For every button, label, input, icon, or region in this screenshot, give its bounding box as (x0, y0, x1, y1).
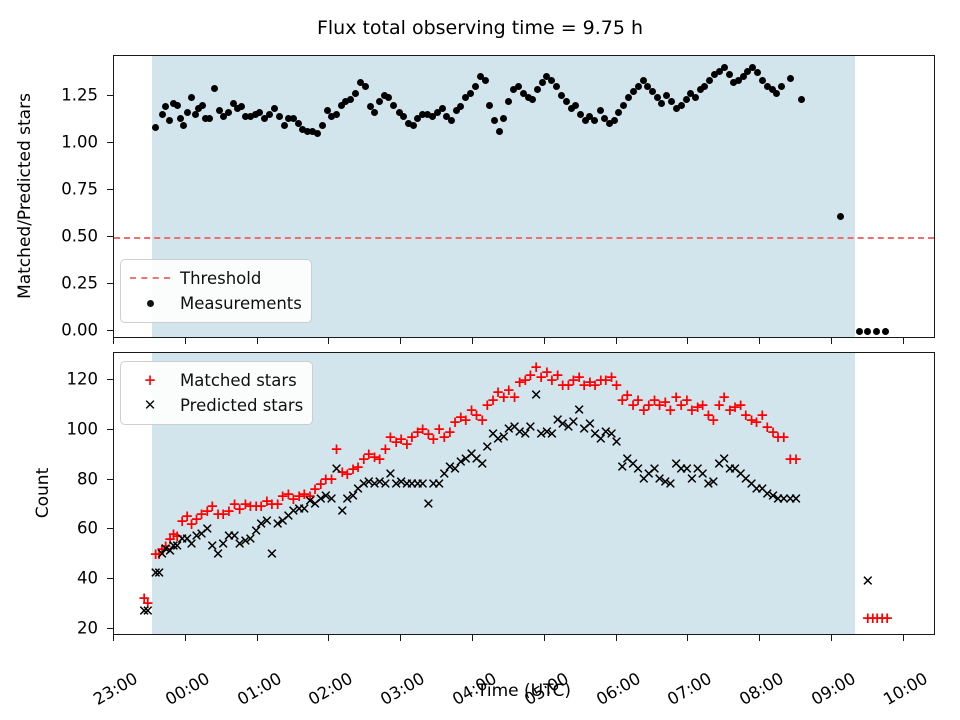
x-tick-mark (831, 635, 832, 641)
data-point-measurement (439, 105, 446, 112)
x-tick-mark (257, 635, 258, 641)
data-point-measurement (787, 75, 794, 82)
data-point-measurement (678, 102, 685, 109)
data-point-measurement (362, 83, 369, 90)
data-point-measurement (515, 83, 522, 90)
data-point-measurement (371, 109, 378, 116)
data-point-measurement (281, 122, 288, 129)
data-point-measurement (159, 111, 166, 118)
y-tick-mark (107, 330, 113, 331)
legend-label-measurements: Measurements (172, 294, 302, 313)
data-point-measurement (266, 111, 273, 118)
data-point-measurement (347, 96, 354, 103)
x-tick-mark (257, 338, 258, 344)
data-point-measurement (174, 102, 181, 109)
dashed-line-icon (128, 266, 172, 291)
data-point-measurement (314, 130, 321, 137)
y-tick-label: 0.75 (25, 179, 98, 198)
data-point-measurement (166, 117, 173, 124)
figure: Flux total observing time = 9.75 h 0.000… (0, 0, 960, 720)
x-tick-mark (400, 635, 401, 641)
data-point-measurement (352, 90, 359, 97)
x-tick-mark (400, 338, 401, 344)
data-point-measurement (873, 328, 880, 335)
data-point-predicted-star: ✕ (152, 566, 167, 581)
x-tick-mark (328, 338, 329, 344)
data-point-measurement (625, 94, 632, 101)
data-point-measurement (206, 115, 213, 122)
data-point-measurement (400, 113, 407, 120)
legend-label-matched-stars: Matched stars (172, 371, 297, 390)
x-tick-mark (759, 635, 760, 641)
x-tick-mark (113, 635, 114, 641)
data-point-measurement (668, 98, 675, 105)
data-point-measurement (385, 94, 392, 101)
data-point-predicted-star: ✕ (140, 604, 155, 619)
data-point-measurement (472, 83, 479, 90)
y-tick-mark (107, 379, 113, 380)
data-point-measurement (448, 117, 455, 124)
y-tick-mark (107, 578, 113, 579)
y-tick-label: 0.50 (25, 227, 98, 246)
data-point-predicted-star: ✕ (329, 462, 344, 477)
data-point-predicted-star: ✕ (706, 475, 721, 490)
data-point-measurement (333, 111, 340, 118)
y-tick-mark (107, 628, 113, 629)
data-point-measurement (271, 105, 278, 112)
y-tick-mark (107, 95, 113, 96)
data-point-measurement (591, 117, 598, 124)
x-tick-mark (687, 338, 688, 344)
data-point-measurement (188, 94, 195, 101)
x-tick-mark (687, 635, 688, 641)
y-tick-mark (107, 189, 113, 190)
data-point-measurement (500, 115, 507, 122)
data-point-measurement (238, 103, 245, 110)
data-point-measurement (563, 98, 570, 105)
data-point-measurement (505, 98, 512, 105)
data-point-measurement (726, 71, 733, 78)
y-tick-mark (107, 236, 113, 237)
data-point-measurement (692, 94, 699, 101)
data-point-measurement (534, 86, 541, 93)
data-point-measurement (837, 213, 844, 220)
data-point-measurement (162, 103, 169, 110)
data-point-measurement (486, 102, 493, 109)
data-point-measurement (491, 117, 498, 124)
data-point-measurement (180, 122, 187, 129)
data-point-matched-star: + (706, 413, 721, 428)
data-point-measurement (199, 102, 206, 109)
x-tick-mark (903, 338, 904, 344)
x-tick-mark (544, 338, 545, 344)
data-point-measurement (683, 96, 690, 103)
x-tick-mark (544, 635, 545, 641)
x-tick-mark (472, 635, 473, 641)
x-axis-label: Time (UTC) (113, 681, 935, 701)
data-point-measurement (856, 328, 863, 335)
y-tick-mark (107, 283, 113, 284)
data-point-predicted-star: ✕ (860, 574, 875, 589)
legend-row-predicted-stars: ✕ Predicted stars (128, 393, 303, 418)
dot-marker-icon (128, 291, 172, 316)
data-point-predicted-star: ✕ (789, 492, 804, 507)
data-point-measurement (778, 83, 785, 90)
legend-row-matched-stars: + Matched stars (128, 368, 303, 393)
data-point-measurement (620, 102, 627, 109)
data-point-measurement (706, 77, 713, 84)
data-point-predicted-star: ✕ (200, 522, 215, 537)
data-point-measurement (635, 83, 642, 90)
legend-label-predicted-stars: Predicted stars (172, 396, 303, 415)
cross-marker-icon: ✕ (128, 393, 172, 418)
bottom-panel-legend[interactable]: + Matched stars ✕ Predicted stars (120, 361, 313, 425)
data-point-measurement (152, 124, 159, 131)
data-point-measurement (529, 96, 536, 103)
x-tick-mark (185, 635, 186, 641)
x-tick-mark (113, 338, 114, 344)
top-panel-legend[interactable]: Threshold Measurements (120, 259, 312, 323)
x-tick-mark (616, 338, 617, 344)
data-point-measurement (496, 128, 503, 135)
legend-row-threshold: Threshold (128, 266, 302, 291)
y-tick-mark (107, 142, 113, 143)
data-point-measurement (177, 115, 184, 122)
data-point-measurement (597, 107, 604, 114)
x-tick-mark (903, 635, 904, 641)
x-tick-mark (472, 338, 473, 344)
x-tick-mark (328, 635, 329, 641)
chart-title: Flux total observing time = 9.75 h (0, 17, 960, 39)
data-point-measurement (319, 122, 326, 129)
y-tick-mark (107, 429, 113, 430)
legend-label-threshold: Threshold (172, 269, 261, 288)
data-point-measurement (882, 328, 889, 335)
data-point-measurement (572, 102, 579, 109)
data-point-measurement (611, 117, 618, 124)
data-point-measurement (184, 109, 191, 116)
data-point-measurement (615, 109, 622, 116)
data-point-matched-star: + (776, 430, 791, 445)
data-point-measurement (553, 83, 560, 90)
plus-marker-icon: + (128, 368, 172, 393)
data-point-measurement (376, 98, 383, 105)
data-point-predicted-star: ✕ (421, 497, 436, 512)
y-axis-label: Matched/Predicted stars (15, 46, 35, 346)
data-point-predicted-star: ✕ (264, 547, 279, 562)
data-point-matched-star: + (507, 390, 522, 405)
y-axis-label: Count (33, 343, 53, 643)
y-tick-label: 1.25 (25, 85, 98, 104)
y-tick-mark (107, 528, 113, 529)
data-point-measurement (410, 122, 417, 129)
y-tick-mark (107, 479, 113, 480)
data-point-measurement (754, 69, 761, 76)
data-point-matched-star: + (880, 611, 895, 626)
data-point-measurement (864, 328, 871, 335)
data-point-measurement (225, 109, 232, 116)
threshold-line (114, 237, 934, 239)
data-point-matched-star: + (789, 452, 804, 467)
data-point-measurement (390, 102, 397, 109)
data-point-measurement (721, 64, 728, 71)
data-point-measurement (457, 103, 464, 110)
y-tick-label: 0.00 (25, 321, 98, 340)
y-tick-label: 1.00 (25, 132, 98, 151)
data-point-measurement (211, 85, 218, 92)
data-point-matched-star: + (329, 442, 344, 457)
legend-row-measurements: Measurements (128, 291, 302, 316)
x-tick-mark (831, 338, 832, 344)
data-point-predicted-star: ✕ (529, 388, 544, 403)
x-tick-mark (185, 338, 186, 344)
data-point-predicted-star: ✕ (609, 435, 624, 450)
data-point-measurement (773, 90, 780, 97)
data-point-predicted-star: ✕ (475, 457, 490, 472)
data-point-measurement (482, 77, 489, 84)
y-tick-label: 0.25 (25, 274, 98, 293)
data-point-measurement (192, 111, 199, 118)
x-tick-mark (759, 338, 760, 344)
data-point-measurement (467, 90, 474, 97)
data-point-predicted-star: ✕ (663, 477, 678, 492)
data-point-measurement (798, 96, 805, 103)
x-tick-mark (616, 635, 617, 641)
data-point-measurement (658, 100, 665, 107)
data-point-measurement (276, 113, 283, 120)
data-point-measurement (630, 88, 637, 95)
